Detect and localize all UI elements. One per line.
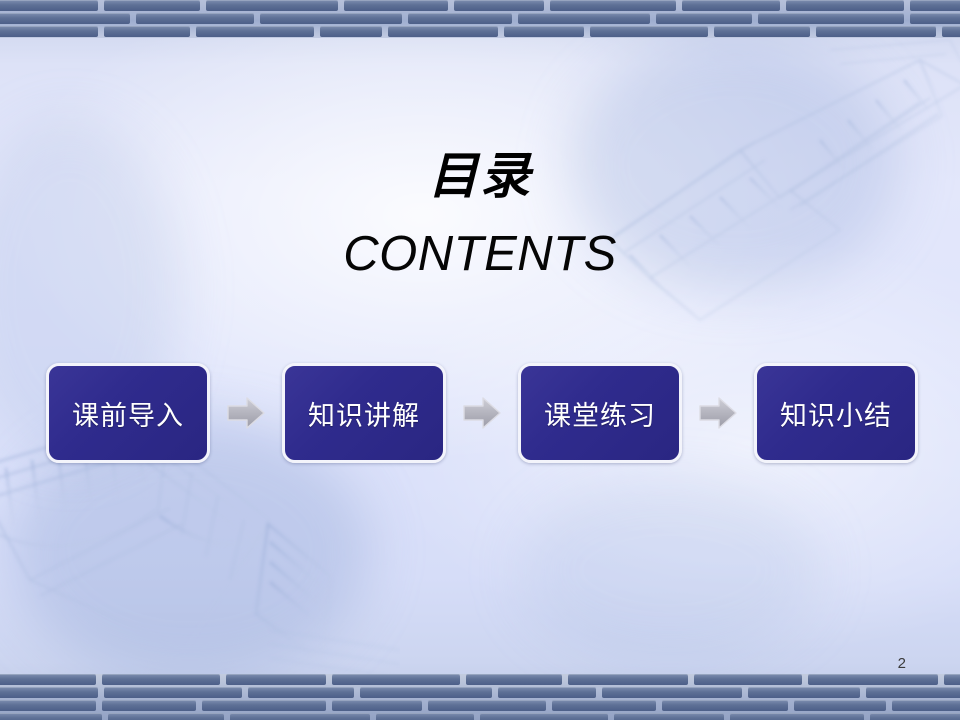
arrow-right-icon [460,391,504,435]
contents-flow-row: 课前导入 知识讲解 课堂练习 [46,357,918,469]
flow-step-label: 课前导入 [72,394,184,433]
arrow-right-icon [696,391,740,435]
brick-row [0,713,960,720]
brick-wall-border-top [0,0,960,38]
flow-step-1[interactable]: 课前导入 [46,363,210,463]
slide-title-block: 目录 CONTENTS [0,148,960,282]
brick-wall-border-bottom [0,674,960,720]
flow-step-label: 知识讲解 [308,394,420,433]
flow-step-3[interactable]: 课堂练习 [518,363,682,463]
brick-row [0,674,960,685]
page-number: 2 [898,655,906,672]
page-title-chinese: 目录 [0,148,960,204]
presentation-slide: 目录 CONTENTS 课前导入 知识讲解 [0,0,960,720]
arrow-right-icon [224,391,268,435]
flow-step-label: 知识小结 [780,394,892,433]
page-title-english: CONTENTS [0,226,960,282]
flow-step-2[interactable]: 知识讲解 [282,363,446,463]
background-haze-lower-right [520,480,820,660]
flow-step-4[interactable]: 知识小结 [754,363,918,463]
flow-step-label: 课堂练习 [544,394,656,433]
brick-row [0,26,960,37]
brick-row [0,13,960,24]
brick-row [0,687,960,698]
brick-row [0,0,960,11]
brick-row [0,700,960,711]
